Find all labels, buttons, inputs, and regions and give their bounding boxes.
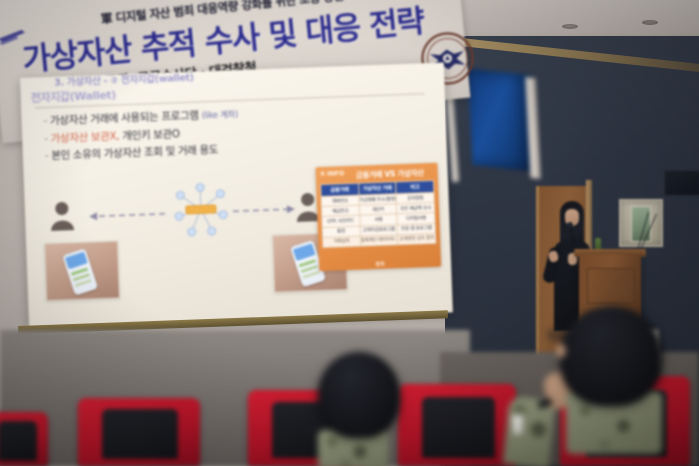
bullet-text: 본인 소유의 가상자산 조회 및 거래 용도 [51, 144, 218, 162]
bullet-dash: - [44, 133, 48, 145]
dashed-arrow-right-icon [231, 204, 297, 216]
projection-screen: 3. 가상자산 - ② 전자지갑(wallet) 전자지갑(Wallet) -가… [20, 62, 453, 327]
audience-ear [556, 344, 566, 358]
eyeglasses-icon [548, 330, 566, 340]
auditorium-seat [0, 412, 48, 466]
podium-front-panel [587, 268, 635, 304]
wall-mounted-monitor [664, 170, 699, 196]
auditorium-seat [398, 384, 516, 466]
bullet-text: 가상자산 거래에 사용되는 프로그램 [50, 109, 199, 126]
info-badge: ⑧ INFO [320, 169, 345, 178]
wallet-transfer-diagram [42, 170, 347, 311]
audience-head [318, 352, 400, 438]
bullet-text: 가상자산 보관X, [50, 130, 122, 145]
presentation-slide: 3. 가상자산 - ② 전자지갑(wallet) 전자지갑(Wallet) -가… [20, 62, 453, 327]
smartphone-icon [62, 248, 98, 295]
ceiling-light-icon [642, 20, 658, 25]
bullet-dash: - [43, 115, 47, 127]
comparison-table: 금융거래 가상자산 거래 비고 계좌번호 가상화폐 주소(월렛) 문자열형 예금… [320, 180, 436, 248]
audience-head [560, 306, 662, 406]
info-comparison-box: ⑧ INFO 금융거래 VS 가상자산 금융거래 가상자산 거래 비고 계좌번호 [315, 163, 441, 271]
phone-wallet-photo [44, 241, 120, 302]
slide-subheading: 전자지갑(Wallet) [30, 87, 116, 106]
auditorium-seat [78, 398, 200, 466]
ceiling-light-icon [562, 24, 578, 29]
blockchain-network-icon [172, 180, 230, 238]
table-cell: 공개원장 상호 참조 [398, 233, 436, 245]
lecture-hall-photo: 軍 디지털 자산 범죄 대응역량 강화를 위한 초빙 강연 가상자산 추적 수사… [0, 0, 699, 466]
table-cell: 블록체인 데이터의 기록 [360, 235, 398, 247]
dashed-arrow-left-icon [87, 209, 169, 222]
bullet-dash: - [45, 150, 49, 162]
bullet-tail: 개인키 보관O [122, 128, 180, 142]
microphone-head-icon [567, 222, 573, 228]
info-footer: 전자 [319, 259, 441, 270]
info-title: 금융거래 VS 가상자산 [356, 167, 424, 180]
slide-bullet-list: -가상자산 거래에 사용되는 프로그램 (like 계좌) -가상자산 보관X,… [43, 99, 425, 165]
person-icon [49, 200, 76, 231]
table-cell: 거래실적 [323, 236, 361, 248]
bullet-note: (like 계좌) [201, 110, 238, 121]
